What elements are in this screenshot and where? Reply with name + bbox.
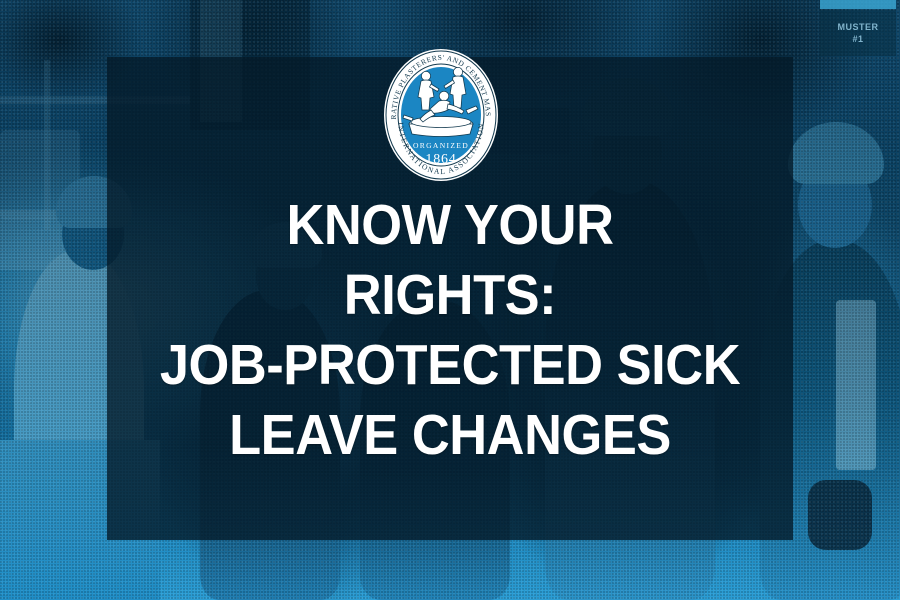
graphic-canvas: MUSTER #1 OPERATIVE PLASTERERS' AND CEME… bbox=[0, 0, 900, 600]
headline-line-2: RIGHTS: bbox=[134, 260, 765, 330]
svg-text:1864: 1864 bbox=[425, 152, 456, 167]
muster-sign-line-1: MUSTER bbox=[838, 21, 879, 33]
muster-sign-line-2: #1 bbox=[852, 33, 863, 45]
muster-sign: MUSTER #1 bbox=[820, 10, 896, 56]
svg-text:ORGANIZED: ORGANIZED bbox=[413, 141, 469, 150]
headline-line-3: JOB-PROTECTED SICK bbox=[134, 330, 765, 400]
headline-line-1: KNOW YOUR bbox=[134, 190, 765, 260]
opcmia-seal-logo: OPERATIVE PLASTERERS' AND CEMENT MASONS'… bbox=[382, 48, 500, 182]
headline-line-4: LEAVE CHANGES bbox=[134, 400, 765, 470]
muster-sign-header-bar bbox=[820, 0, 896, 9]
main-headline: KNOW YOUR RIGHTS: JOB-PROTECTED SICK LEA… bbox=[134, 190, 765, 470]
